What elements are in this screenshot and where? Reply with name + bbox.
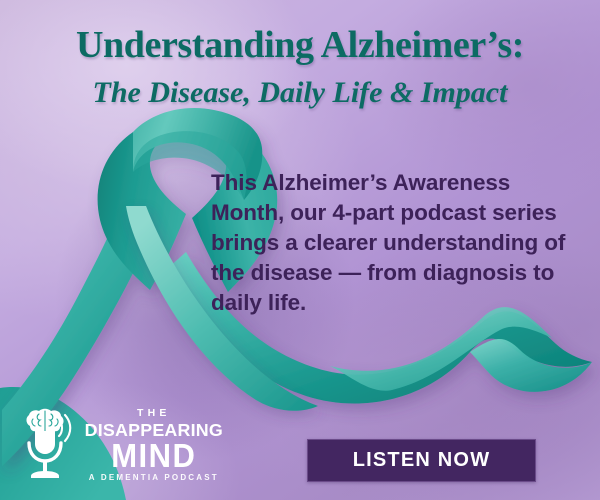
body-copy: This Alzheimer’s Awareness Month, our 4-… (211, 168, 571, 318)
advertisement-banner: Understanding Alzheimer’s: The Disease, … (0, 0, 600, 500)
listen-now-button-label: LISTEN NOW (353, 449, 491, 472)
logo-tagline: A DEMENTIA PODCAST (89, 474, 219, 482)
podcast-wordmark: THE DISAPPEARING MIND A DEMENTIA PODCAST (86, 406, 222, 482)
podcast-logo[interactable]: THE DISAPPEARING MIND A DEMENTIA PODCAST (12, 400, 202, 488)
logo-line-the: THE (137, 408, 171, 419)
logo-line-mind: MIND (111, 439, 196, 472)
microphone-brain-icon (12, 404, 80, 484)
headline-block: Understanding Alzheimer’s: The Disease, … (0, 26, 600, 109)
page-subtitle: The Disease, Daily Life & Impact (14, 76, 586, 109)
listen-now-button[interactable]: LISTEN NOW (307, 439, 536, 482)
brain-shape (26, 409, 63, 432)
page-title: Understanding Alzheimer’s: (14, 26, 586, 66)
